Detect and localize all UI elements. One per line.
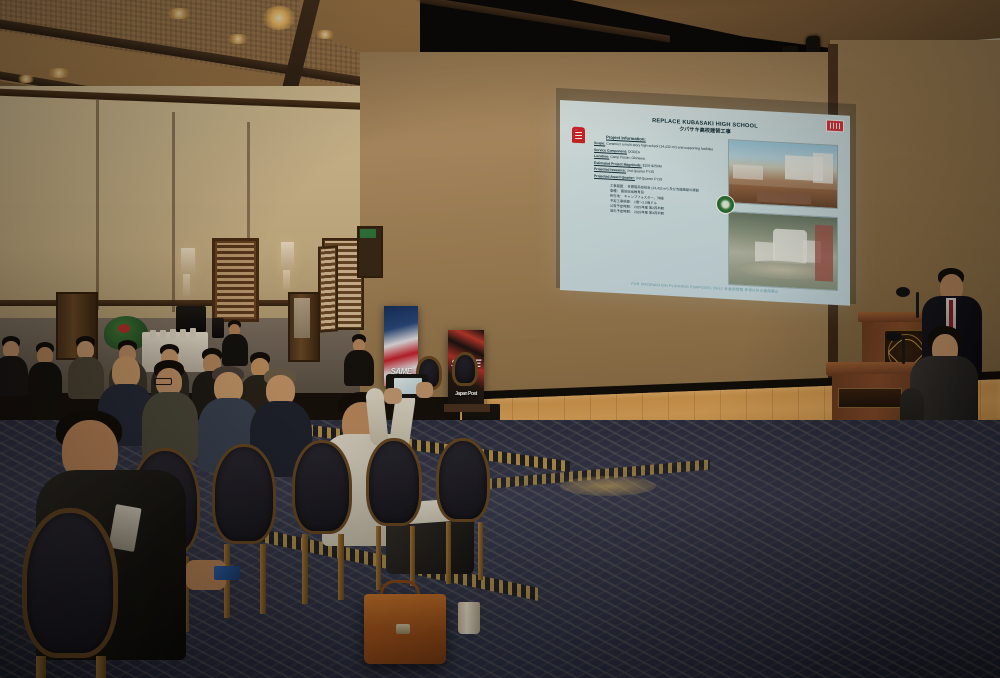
wall-sconce bbox=[281, 242, 294, 270]
water-glass bbox=[150, 330, 156, 339]
wall-sconce bbox=[181, 248, 195, 274]
water-glass bbox=[170, 329, 176, 338]
ceiling-downlight bbox=[226, 34, 250, 44]
photographer-hand bbox=[384, 388, 402, 404]
rear-microphone-head[interactable] bbox=[896, 287, 910, 297]
same-floor-poster-sub: Japan Post bbox=[448, 391, 484, 397]
main-microphone-stem[interactable] bbox=[902, 336, 905, 364]
main-podium-nameplate bbox=[838, 388, 902, 408]
ceiling-downlight bbox=[314, 30, 336, 39]
field-value: 2nd Quarter FY25 bbox=[627, 169, 654, 174]
paper-cup bbox=[458, 602, 480, 634]
lattice-screen-far bbox=[318, 245, 338, 332]
rear-microphone-stem[interactable] bbox=[916, 292, 919, 318]
eyeglasses-icon bbox=[154, 378, 172, 385]
exit-sign bbox=[360, 229, 376, 238]
conference-room-photo: REPLACE KUBASAKI HIGH SCHOOL クバサキ高校建替工事 … bbox=[0, 0, 1000, 678]
main-microphone-head[interactable] bbox=[886, 332, 902, 341]
poster-easel-base bbox=[444, 404, 490, 412]
ceiling-downlight bbox=[46, 68, 72, 78]
lattice-wall-panel bbox=[212, 238, 259, 322]
ceiling-downlight bbox=[16, 75, 36, 83]
water-glass bbox=[190, 328, 196, 337]
wall-sconce bbox=[283, 270, 290, 290]
field-label: Estimated Project Magnitude: bbox=[594, 161, 642, 168]
projection-screen: REPLACE KUBASAKI HIGH SCHOOL クバサキ高校建替工事 … bbox=[560, 100, 850, 306]
photographer-hand bbox=[416, 382, 433, 398]
water-glass bbox=[160, 330, 166, 339]
field-label: Scope: bbox=[594, 141, 605, 146]
field-label: Location: bbox=[594, 154, 609, 159]
ceiling-spotlight bbox=[262, 6, 296, 30]
field-label: Projected Award Quarter: bbox=[594, 174, 635, 180]
ceiling-downlight bbox=[165, 8, 193, 19]
slide-image-aerial-rendering bbox=[728, 211, 838, 291]
field-label: Service Component: bbox=[594, 148, 627, 154]
field-value: Camp Foster, Okinawa bbox=[610, 155, 644, 161]
field-label: Projected Issuance: bbox=[594, 167, 626, 173]
wall-sconce bbox=[183, 274, 190, 296]
field-value: DODEA bbox=[628, 150, 640, 155]
smartphone-icon[interactable] bbox=[214, 566, 240, 580]
field-value: $100-$250M bbox=[643, 163, 662, 168]
flower-arrangement bbox=[118, 324, 130, 333]
presentation-slide: REPLACE KUBASAKI HIGH SCHOOL クバサキ高校建替工事 … bbox=[560, 100, 850, 306]
dodea-seal-icon bbox=[716, 194, 735, 214]
briefcase-clasp bbox=[396, 624, 410, 634]
shuri-castle-logo-icon bbox=[572, 127, 585, 144]
field-value: 3rd Quarter FY26 bbox=[636, 176, 662, 181]
usace-logo-icon bbox=[826, 119, 844, 132]
pa-speaker-2 bbox=[212, 318, 224, 338]
slide-image-exterior-rendering bbox=[728, 139, 838, 209]
carpet-medallion bbox=[560, 476, 656, 496]
water-glass bbox=[180, 329, 186, 338]
